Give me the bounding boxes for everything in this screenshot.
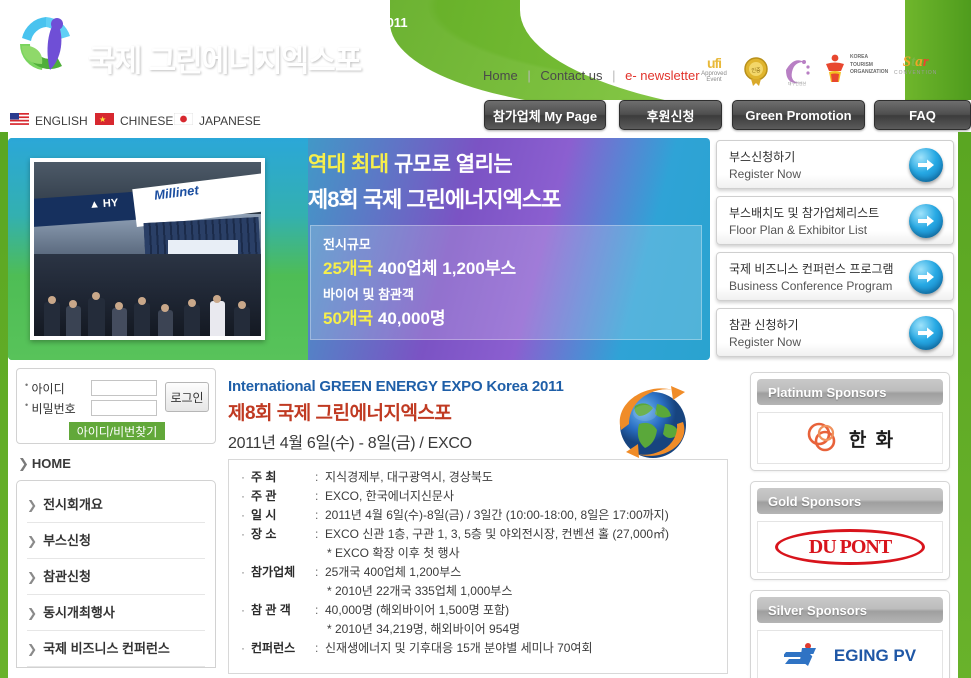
info-row: · 참가업체 : 25개국 400업체 1,200부스 (229, 563, 727, 582)
bullet-icon: · (241, 525, 251, 544)
bullet-icon: · (241, 601, 251, 620)
bullet-icon: · (241, 468, 251, 487)
info-row-value: 2011년 4월 6일(수)-8일(금) / 3일간 (10:00-18:00,… (325, 506, 669, 525)
info-colon: : (315, 601, 325, 620)
sidebar-item-booth-application[interactable]: ❯부스신청 (27, 523, 205, 559)
info-row-key: 참 관 객 (251, 601, 315, 620)
arrow-right-icon (909, 316, 943, 350)
chevron-right-icon: ❯ (27, 498, 37, 512)
info-colon: : (315, 506, 325, 525)
bullet-icon: · (241, 639, 251, 658)
bullet-icon: · (241, 506, 251, 525)
svg-text:★: ★ (99, 115, 106, 124)
hanwha-logo-text: 한 화 (849, 425, 895, 452)
chevron-right-icon: ❯ (27, 570, 37, 584)
korea-tourism-organization-logo-icon: KOREATOURISMORGANIZATION (822, 54, 888, 84)
nav-separator-2: | (612, 68, 615, 83)
right-green-border (958, 132, 971, 678)
info-colon: : (315, 525, 325, 544)
chevron-right-icon: ❯ (27, 534, 37, 548)
info-row-value: EXCO, 한국에너지신문사 (325, 487, 454, 506)
jp-flag-icon (174, 112, 193, 130)
quick-link-conference-program-en: Business Conference Program (729, 279, 892, 293)
lang-chinese[interactable]: ★ CHINESE (95, 112, 173, 130)
info-row-note: * 2010년 22개국 335업체 1,000부스 (229, 582, 727, 601)
info-colon: : (315, 563, 325, 582)
sidebar-item-overview[interactable]: ❯전시회개요 (27, 487, 205, 523)
sponsor-block-platinum: Platinum Sponsors 한 화 (750, 372, 950, 471)
nav-e-newsletter[interactable]: e- newsletter (625, 68, 699, 83)
banner-stat-highlight-1: 50개국 (323, 309, 373, 328)
us-flag-icon (10, 112, 29, 130)
dupont-logo-text: DU PONT (775, 529, 925, 565)
tab-faq[interactable]: FAQ (874, 100, 971, 130)
left-green-border (0, 132, 8, 678)
info-row-value: 40,000명 (해외바이어 1,500명 포함) (325, 601, 509, 620)
expo-hall-photo: ▲ HY Millinet (30, 158, 265, 340)
arrow-right-icon (909, 204, 943, 238)
logo-edition: 제8회 (88, 12, 126, 36)
sponsor-block-gold: Gold Sponsors DU PONT (750, 481, 950, 580)
sponsor-column: Platinum Sponsors 한 화 Gold Sponsors DU P… (750, 372, 955, 678)
ufi-approved-event-logo-icon: ufi Approved Event (692, 56, 736, 83)
banner-stat-label-0: 전시규모 (323, 234, 701, 253)
info-row-key: 주 최 (251, 468, 315, 487)
banner-stat-label-1: 바이어 및 참관객 (323, 284, 701, 303)
quick-link-floor-plan[interactable]: 부스배치도 및 참가업체리스트 Floor Plan & Exhibitor L… (716, 196, 954, 245)
login-button[interactable]: 로그인 (165, 382, 209, 412)
lang-japanese-label: JAPANESE (199, 114, 261, 128)
sidebar-item-business-conference[interactable]: ❯국제 비즈니스 컨퍼런스 (27, 631, 205, 667)
banner-stat-highlight-0: 25개국 (323, 259, 373, 278)
info-colon: : (315, 639, 325, 658)
sidebar-item-concurrent-events[interactable]: ❯동시개최행사 (27, 595, 205, 631)
eging-pv-mark-icon (784, 642, 828, 670)
logo-korean-title: 국제 그린에너지엑스포 (88, 36, 361, 80)
site-header: 제8회 International Green Energy Expo Kore… (0, 0, 971, 100)
lang-english[interactable]: ENGLISH (10, 112, 88, 130)
quick-link-booth-register[interactable]: 부스신청하기 Register Now (716, 140, 954, 189)
lang-chinese-label: CHINESE (120, 114, 173, 128)
required-marker: • (25, 400, 28, 410)
login-pw-label: 비밀번호 (32, 402, 76, 416)
language-bar: ENGLISH ★ CHINESE JAPANESE (0, 110, 480, 134)
info-row: · 주 최 : 지식경제부, 대구광역시, 경상북도 (229, 468, 727, 487)
info-row: · 장 소 : EXCO 신관 1층, 구관 1, 3, 5층 및 야외전시장,… (229, 525, 727, 544)
info-colon: : (315, 468, 325, 487)
info-row-key: 주 관 (251, 487, 315, 506)
bullet-icon: · (241, 563, 251, 582)
banner-headline-highlight: 역대 최대 (308, 153, 389, 176)
eging-pv-logo-text: EGING PV (834, 646, 916, 666)
logo-english-title: International Green Energy Expo Korea 20… (133, 15, 408, 30)
info-row-note: * EXCO 확장 이후 첫 행사 (229, 544, 727, 563)
find-id-password-button[interactable]: 아이디/비번찾기 (69, 422, 165, 440)
quick-link-conference-program[interactable]: 국제 비즈니스 컨퍼런스 프로그램 Business Conference Pr… (716, 252, 954, 301)
info-row-key: 일 시 (251, 506, 315, 525)
info-row-value: 신재생에너지 및 기후대응 15개 분야별 세미나 70여회 (325, 639, 593, 658)
login-pw-input[interactable] (91, 400, 157, 416)
required-marker: • (25, 380, 28, 390)
dupont-logo[interactable]: DU PONT (757, 521, 943, 573)
sidebar-item-visitor-application-label: 참관신청 (43, 569, 91, 584)
nav-home[interactable]: Home (483, 68, 518, 83)
chevron-right-icon: ❯ (18, 456, 29, 471)
quick-link-list: 부스신청하기 Register Now 부스배치도 및 참가업체리스트 Floo… (716, 140, 956, 364)
sponsor-block-platinum-title: Platinum Sponsors (757, 379, 943, 405)
info-row-value: 25개국 400업체 1,200부스 (325, 563, 461, 582)
info-row-note: * 2010년 34,219명, 해외바이어 954명 (229, 620, 727, 639)
login-box: • 아이디 • 비밀번호 로그인 아이디/비번찾기 (16, 368, 216, 444)
cn-flag-icon: ★ (95, 112, 114, 130)
sidebar-item-overview-label: 전시회개요 (43, 497, 103, 512)
bullet-icon: · (241, 487, 251, 506)
login-id-label: 아이디 (32, 382, 65, 396)
gold-seal-certification-logo-icon: 인증 (742, 56, 770, 88)
info-row: · 참 관 객 : 40,000명 (해외바이어 1,500명 포함) (229, 601, 727, 620)
chevron-right-icon: ❯ (27, 606, 37, 620)
info-row: · 일 시 : 2011년 4월 6일(수)-8일(금) / 3일간 (10:0… (229, 506, 727, 525)
banner-headline-line2: 제8회 국제 그린에너지엑스포 (308, 182, 708, 214)
page-root: 제8회 International Green Energy Expo Kore… (0, 0, 971, 678)
banner-headline: 역대 최대 규모로 열리는 제8회 국제 그린에너지엑스포 (308, 148, 708, 214)
breadcrumb-home[interactable]: ❯HOME (18, 456, 218, 472)
green-energy-circle-logo-icon (12, 10, 80, 78)
arrow-right-icon (909, 260, 943, 294)
login-id-input[interactable] (91, 380, 157, 396)
quick-link-booth-register-en: Register Now (729, 167, 801, 181)
site-logo[interactable]: 제8회 International Green Energy Expo Kore… (8, 6, 368, 92)
breadcrumb-home-label: HOME (32, 456, 71, 471)
eging-pv-logo[interactable]: EGING PV (757, 630, 943, 678)
svg-text:인증: 인증 (751, 67, 761, 74)
sidebar-item-visitor-application[interactable]: ❯참관신청 (27, 559, 205, 595)
sidebar-item-booth-application-label: 부스신청 (43, 533, 91, 548)
info-row: · 컨퍼런스 : 신재생에너지 및 기후대응 15개 분야별 세미나 70여회 (229, 639, 727, 658)
chevron-right-icon: ❯ (27, 642, 37, 656)
lang-english-label: ENGLISH (35, 114, 88, 128)
tab-my-page[interactable]: 참가업체 My Page (484, 100, 606, 130)
quick-link-floor-plan-ko: 부스배치도 및 참가업체리스트 (729, 204, 879, 221)
main-content: International GREEN ENERGY EXPO Korea 20… (228, 378, 738, 453)
hero-banner[interactable]: ▲ HY Millinet 역대 최대 규 (8, 138, 710, 360)
info-colon: : (315, 487, 325, 506)
info-row-key: 장 소 (251, 525, 315, 544)
hanwha-logo[interactable]: 한 화 (757, 412, 943, 464)
info-row: · 주 관 : EXCO, 한국에너지신문사 (229, 487, 727, 506)
quick-link-visitor-register[interactable]: 참관 신청하기 Register Now (716, 308, 954, 357)
sponsor-block-silver-title: Silver Sponsors (757, 597, 943, 623)
left-sidebar: • 아이디 • 비밀번호 로그인 아이디/비번찾기 ❯HOME ❯전시회개요 ❯… (8, 368, 218, 668)
tab-green-promotion[interactable]: Green Promotion (732, 100, 865, 130)
top-navigation: Home | Contact us | e- newsletter (483, 68, 700, 83)
quick-link-conference-program-ko: 국제 비즈니스 컨퍼런스 프로그램 (729, 260, 894, 277)
banner-stat-rest-1: 40,000명 (373, 309, 445, 328)
sponsor-block-silver: Silver Sponsors EGING PV (750, 590, 950, 678)
sidebar-item-business-conference-label: 국제 비즈니스 컨퍼런스 (43, 641, 170, 656)
svg-text:대구컨벤션: 대구컨벤션 (788, 80, 807, 86)
quick-link-visitor-register-en: Register Now (729, 335, 801, 349)
partner-logo-strip: ufi Approved Event 인증 대구컨벤션 (692, 52, 930, 92)
banner-stat-rest-0: 400업체 1,200부스 (373, 259, 516, 278)
arrow-right-icon (909, 148, 943, 182)
sponsor-block-gold-title: Gold Sponsors (757, 488, 943, 514)
sidebar-item-concurrent-events-label: 동시개최행사 (43, 605, 115, 620)
convention-bureau-logo-icon: 대구컨벤션 (780, 54, 814, 88)
nav-contact-us[interactable]: Contact us (540, 68, 602, 83)
info-row-value: 지식경제부, 대구광역시, 경상북도 (325, 468, 493, 487)
info-row-value: EXCO 신관 1층, 구관 1, 3, 5층 및 야외전시장, 컨벤션 홀 (… (325, 525, 669, 544)
logo-subtitle: 태양광 · 풍력 · 신재생 (90, 76, 205, 92)
banner-headline-rest: 규모로 열리는 (389, 153, 513, 176)
quick-link-booth-register-ko: 부스신청하기 (729, 148, 795, 165)
quick-link-floor-plan-en: Floor Plan & Exhibitor List (729, 223, 867, 237)
info-row-key: 참가업체 (251, 563, 315, 582)
star-convention-logo-icon: Star CONVENTION (894, 55, 937, 76)
globe-with-arrow-icon (605, 380, 697, 465)
info-row-key: 컨퍼런스 (251, 639, 315, 658)
tab-sponsorship[interactable]: 후원신청 (619, 100, 722, 130)
lang-japanese[interactable]: JAPANESE (174, 112, 261, 130)
quick-link-visitor-register-ko: 참관 신청하기 (729, 316, 799, 333)
hanwha-mark-icon (805, 421, 841, 455)
event-info-box: · 주 최 : 지식경제부, 대구광역시, 경상북도 · 주 관 : EXCO,… (228, 459, 728, 674)
sidebar-nav: ❯전시회개요 ❯부스신청 ❯참관신청 ❯동시개최행사 ❯국제 비즈니스 컨퍼런스 (16, 480, 216, 668)
banner-stats-box: 전시규모 25개국 400업체 1,200부스 바이어 및 참관객 50개국 4… (310, 225, 702, 340)
nav-separator-1: | (527, 68, 530, 83)
